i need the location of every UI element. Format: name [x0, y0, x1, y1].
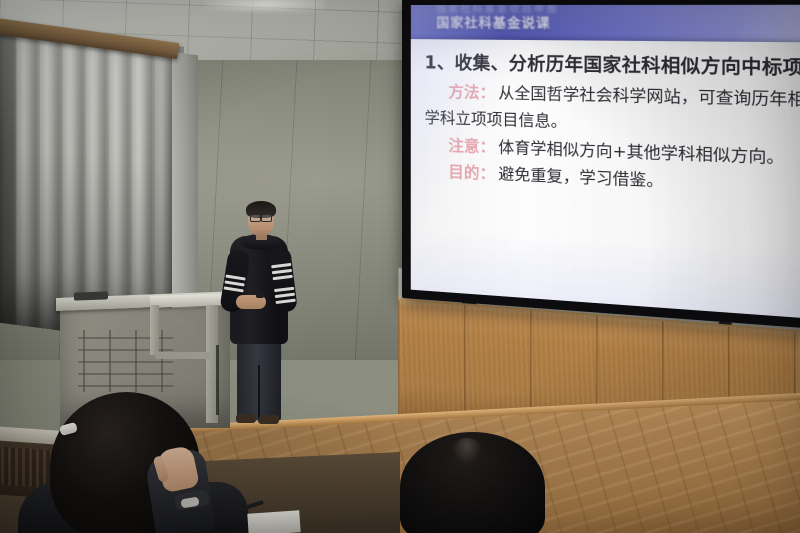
lectern-leg-left — [150, 305, 159, 355]
slide-method-line: 方法：从全国哲学社会科学网站，可查询历年相关 — [425, 82, 800, 111]
projection-screen: 国家社科基金项目申报 国家社科基金说课 1、收集、分析历年国家社科相似方向中标项… — [402, 0, 800, 306]
screen-frame: 国家社科基金项目申报 国家社科基金说课 1、收集、分析历年国家社科相似方向中标项… — [402, 0, 800, 330]
slide-purpose-text: 避免重复，学习借鉴。 — [498, 165, 663, 191]
slide-banner: 国家社科基金项目申报 国家社科基金说课 — [411, 5, 800, 43]
slide-purpose-line: 目的：避免重复，学习借鉴。 — [425, 162, 800, 198]
console-device-icon — [74, 291, 108, 300]
slide-banner-title: 国家社科基金说课 — [436, 12, 550, 32]
curtain-right-column — [172, 52, 198, 323]
eyeglasses-icon — [250, 214, 272, 220]
slide-method-text: 从全国哲学社会科学网站，可查询历年相关 — [498, 84, 800, 110]
ceiling-light-panel — [205, 0, 325, 12]
slide-heading: 1、收集、分析历年国家社科相似方向中标项目 — [425, 53, 800, 82]
presenter-sleeve-stripes-right-lower — [274, 287, 294, 289]
audience-right-hair-part — [452, 438, 482, 464]
slide-purpose-tag: 目的： — [448, 163, 495, 183]
presenter-sleeve-stripes-right — [271, 263, 291, 265]
slide-note-text: 体育学相似方向+其他学科相似方向。 — [498, 138, 784, 167]
notebook-paper — [247, 510, 300, 533]
presenter-shoe-left — [236, 414, 256, 423]
slide-heading-text: 1、收集、分析历年国家社科相似方向中标项目 — [425, 53, 800, 80]
slide-method-line-2: 学科立项项目信息。 — [425, 109, 800, 140]
presenter-leg-seam — [258, 365, 260, 420]
slide-content: 1、收集、分析历年国家社科相似方向中标项目 方法：从全国哲学社会科学网站，可查询… — [411, 39, 800, 319]
presenter-shoe-right — [258, 415, 279, 424]
presenter-sleeve-stripes-left — [226, 274, 246, 277]
hanging-cable — [216, 345, 219, 415]
lecture-hall-photo: 国家社科基金项目申报 国家社科基金说课 1、收集、分析历年国家社科相似方向中标项… — [0, 0, 800, 533]
lectern-shelf — [155, 352, 213, 359]
screen-surface: 国家社科基金项目申报 国家社科基金说课 1、收集、分析历年国家社科相似方向中标项… — [411, 5, 800, 320]
slide-note-tag: 注意： — [448, 136, 495, 156]
slide-method-tag: 方法： — [448, 83, 495, 102]
presenter-wristwatch — [256, 292, 264, 298]
slide-method-text-2: 学科立项项目信息。 — [425, 109, 568, 131]
